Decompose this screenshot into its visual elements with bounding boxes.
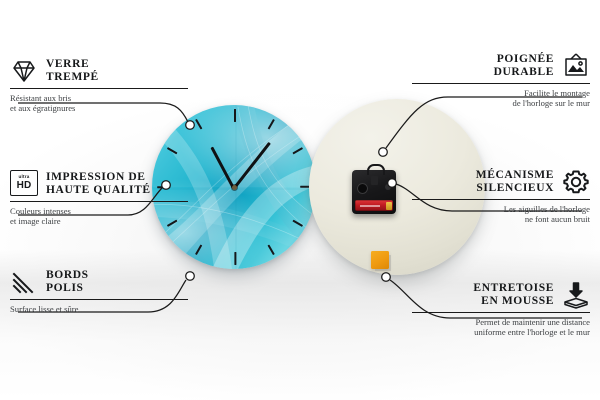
feature-desc-line1: Permet de maintenir une distance [475, 317, 590, 327]
feature-divider [412, 199, 590, 200]
feature-title: POIGNÉE DURABLE [494, 53, 554, 79]
feature-entretoise-en-mousse: ENTRETOISE EN MOUSSE Permet de maintenir… [412, 281, 590, 338]
feature-description: Couleurs intenses et image claire [10, 206, 188, 227]
feature-impression-haute-qualite: ultra HD IMPRESSION DE HAUTE QUALITÉ Cou… [10, 170, 188, 227]
feature-divider [412, 312, 590, 313]
feature-bords-polis: BORDS POLIS Surface lisse et sûre [10, 268, 188, 314]
connector-dot-right-3 [382, 273, 391, 282]
polished-edges-icon [10, 268, 38, 296]
feature-title: VERRE TREMPÉ [46, 58, 99, 84]
feature-divider [10, 201, 188, 202]
feature-desc-line2: et aux égratignures [10, 103, 75, 113]
feature-title-line1: MÉCANISME [476, 169, 554, 181]
feature-header: BORDS POLIS [10, 268, 188, 296]
feature-description: Surface lisse et sûre [10, 304, 188, 314]
feature-desc-line1: Résistant aux bris [10, 93, 71, 103]
feature-desc-line1: Les aiguilles de l'horloge [504, 204, 590, 214]
feature-divider [10, 299, 188, 300]
feature-title-line1: POIGNÉE [497, 53, 554, 65]
feature-description: Les aiguilles de l'horloge ne font aucun… [412, 204, 590, 225]
feature-title: MÉCANISME SILENCIEUX [476, 169, 554, 195]
feature-title-line2: POLIS [46, 282, 84, 294]
feature-description: Résistant aux bris et aux égratignures [10, 93, 188, 114]
feature-title: BORDS POLIS [46, 269, 89, 295]
feature-mecanisme-silencieux: MÉCANISME SILENCIEUX Les aiguilles de l'… [412, 168, 590, 225]
feature-title-line2: EN MOUSSE [481, 295, 554, 307]
feature-title-line2: TREMPÉ [46, 71, 99, 83]
feature-header: VERRE TREMPÉ [10, 57, 188, 85]
feature-desc-line2: ne font aucun bruit [525, 214, 590, 224]
feature-header: MÉCANISME SILENCIEUX [412, 168, 590, 196]
feature-desc-line2: et image claire [10, 216, 61, 226]
feature-title-line2: HAUTE QUALITÉ [46, 184, 151, 196]
diamond-icon [10, 57, 38, 85]
connector-dot-right-2 [388, 179, 397, 188]
feature-description: Permet de maintenir une distance uniform… [412, 317, 590, 338]
feature-description: Facilite le montage de l'horloge sur le … [412, 88, 590, 109]
foam-spacer-icon [562, 281, 590, 309]
feature-desc-line1: Surface lisse et sûre [10, 304, 79, 314]
feature-verre-trempe: VERRE TREMPÉ Résistant aux bris et aux é… [10, 57, 188, 114]
feature-title: ENTRETOISE EN MOUSSE [473, 282, 554, 308]
gear-icon [562, 168, 590, 196]
infographic-canvas: VERRE TREMPÉ Résistant aux bris et aux é… [0, 0, 600, 400]
feature-desc-line1: Facilite le montage [524, 88, 590, 98]
feature-poignee-durable: POIGNÉE DURABLE Facilite le montage de l… [412, 52, 590, 109]
feature-divider [10, 88, 188, 89]
connector-dot-right-1 [379, 148, 388, 157]
feature-title: IMPRESSION DE HAUTE QUALITÉ [46, 171, 151, 197]
feature-desc-line1: Couleurs intenses [10, 206, 71, 216]
feature-header: POIGNÉE DURABLE [412, 52, 590, 80]
feature-header: ENTRETOISE EN MOUSSE [412, 281, 590, 309]
hd-badge-large-text: HD [17, 181, 32, 191]
feature-divider [412, 83, 590, 84]
picture-hanger-icon [562, 52, 590, 80]
connector-dot-left-1 [186, 121, 195, 130]
feature-title-line1: IMPRESSION DE [46, 171, 146, 183]
ultra-hd-badge-icon: ultra HD [10, 170, 38, 198]
feature-desc-line2: uniforme entre l'horloge et le mur [474, 327, 590, 337]
feature-title-line2: SILENCIEUX [476, 182, 554, 194]
feature-title-line1: BORDS [46, 269, 89, 281]
feature-header: ultra HD IMPRESSION DE HAUTE QUALITÉ [10, 170, 188, 198]
feature-title-line2: DURABLE [494, 66, 554, 78]
feature-desc-line2: de l'horloge sur le mur [513, 98, 590, 108]
feature-title-line1: ENTRETOISE [473, 282, 554, 294]
feature-title-line1: VERRE [46, 58, 89, 70]
